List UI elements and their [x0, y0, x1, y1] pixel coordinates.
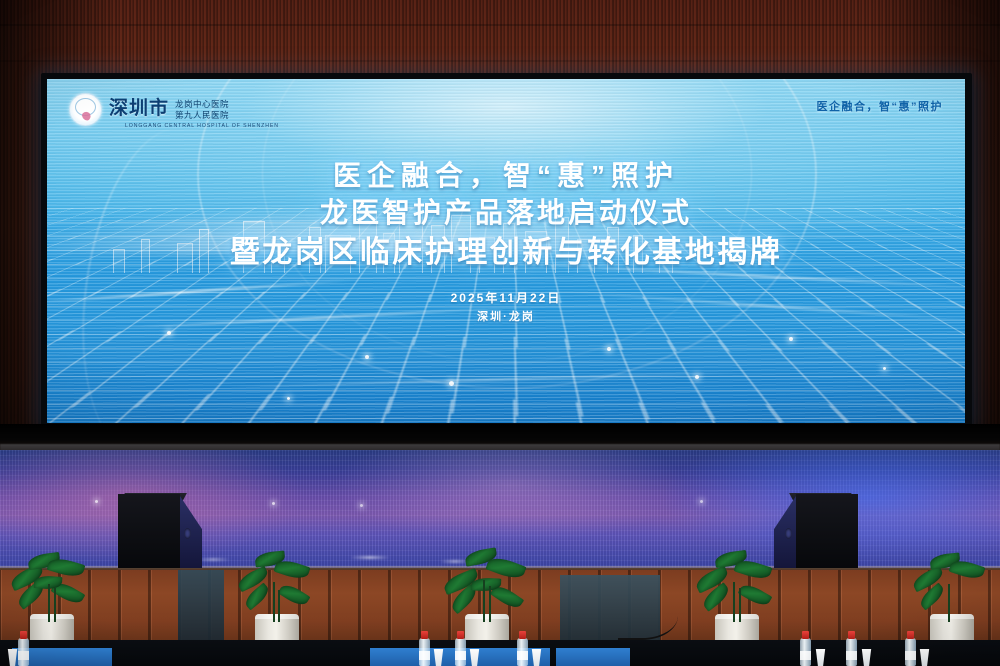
plant-leaves	[904, 544, 1000, 622]
wall-seam-top	[0, 24, 1000, 26]
plant-leaves	[439, 544, 535, 622]
hospital-name-line-2: 第九人民医院	[175, 110, 229, 120]
water-bottle[interactable]	[455, 638, 466, 666]
hospital-english-name: LONGGANG CENTRAL HOSPITAL OF SHENZHEN	[125, 123, 279, 129]
water-bottle[interactable]	[419, 638, 430, 666]
corner-slogan: 医企融合，智“惠”照护	[817, 98, 944, 114]
event-date: 2025年11月22日	[47, 289, 965, 306]
water-bottle[interactable]	[905, 638, 916, 666]
wall-seam-mid	[0, 60, 1000, 62]
event-title-block: 医企融合，智“惠”照护 龙医智护产品落地启动仪式 暨龙岗区临床护理创新与转化基地…	[47, 159, 965, 272]
water-bottle[interactable]	[18, 638, 29, 666]
stage-panel-gap-left	[178, 570, 224, 648]
water-bottle[interactable]	[800, 638, 811, 666]
plant-leaves	[229, 544, 325, 622]
event-title-line-3: 暨龙岗区临床护理创新与转化基地揭牌	[47, 233, 965, 272]
water-bottle[interactable]	[846, 638, 857, 666]
plant-leaves	[4, 544, 100, 622]
hospital-logo: 深圳市 龙岗中心医院 第九人民医院 LONGGANG CENTRAL HOSPI…	[69, 93, 229, 126]
event-meta-block: 2025年11月22日 深圳·龙岗	[47, 289, 965, 324]
water-bottle[interactable]	[517, 638, 528, 666]
hospital-name-line-1: 龙岗中心医院	[175, 99, 229, 109]
event-location: 深圳·龙岗	[47, 308, 965, 324]
led-screen: 深圳市 龙岗中心医院 第九人民医院 LONGGANG CENTRAL HOSPI…	[47, 79, 965, 423]
conference-hall-scene: 深圳市 龙岗中心医院 第九人民医院 LONGGANG CENTRAL HOSPI…	[0, 0, 1000, 666]
hospital-city-name: 深圳市	[109, 99, 169, 118]
plant-leaves	[689, 544, 785, 622]
event-title-line-2: 龙医智护产品落地启动仪式	[47, 195, 965, 231]
event-title-line-1: 医企融合，智“惠”照护	[47, 159, 965, 192]
table-cloth	[556, 648, 630, 666]
hospital-emblem-icon	[69, 93, 102, 126]
